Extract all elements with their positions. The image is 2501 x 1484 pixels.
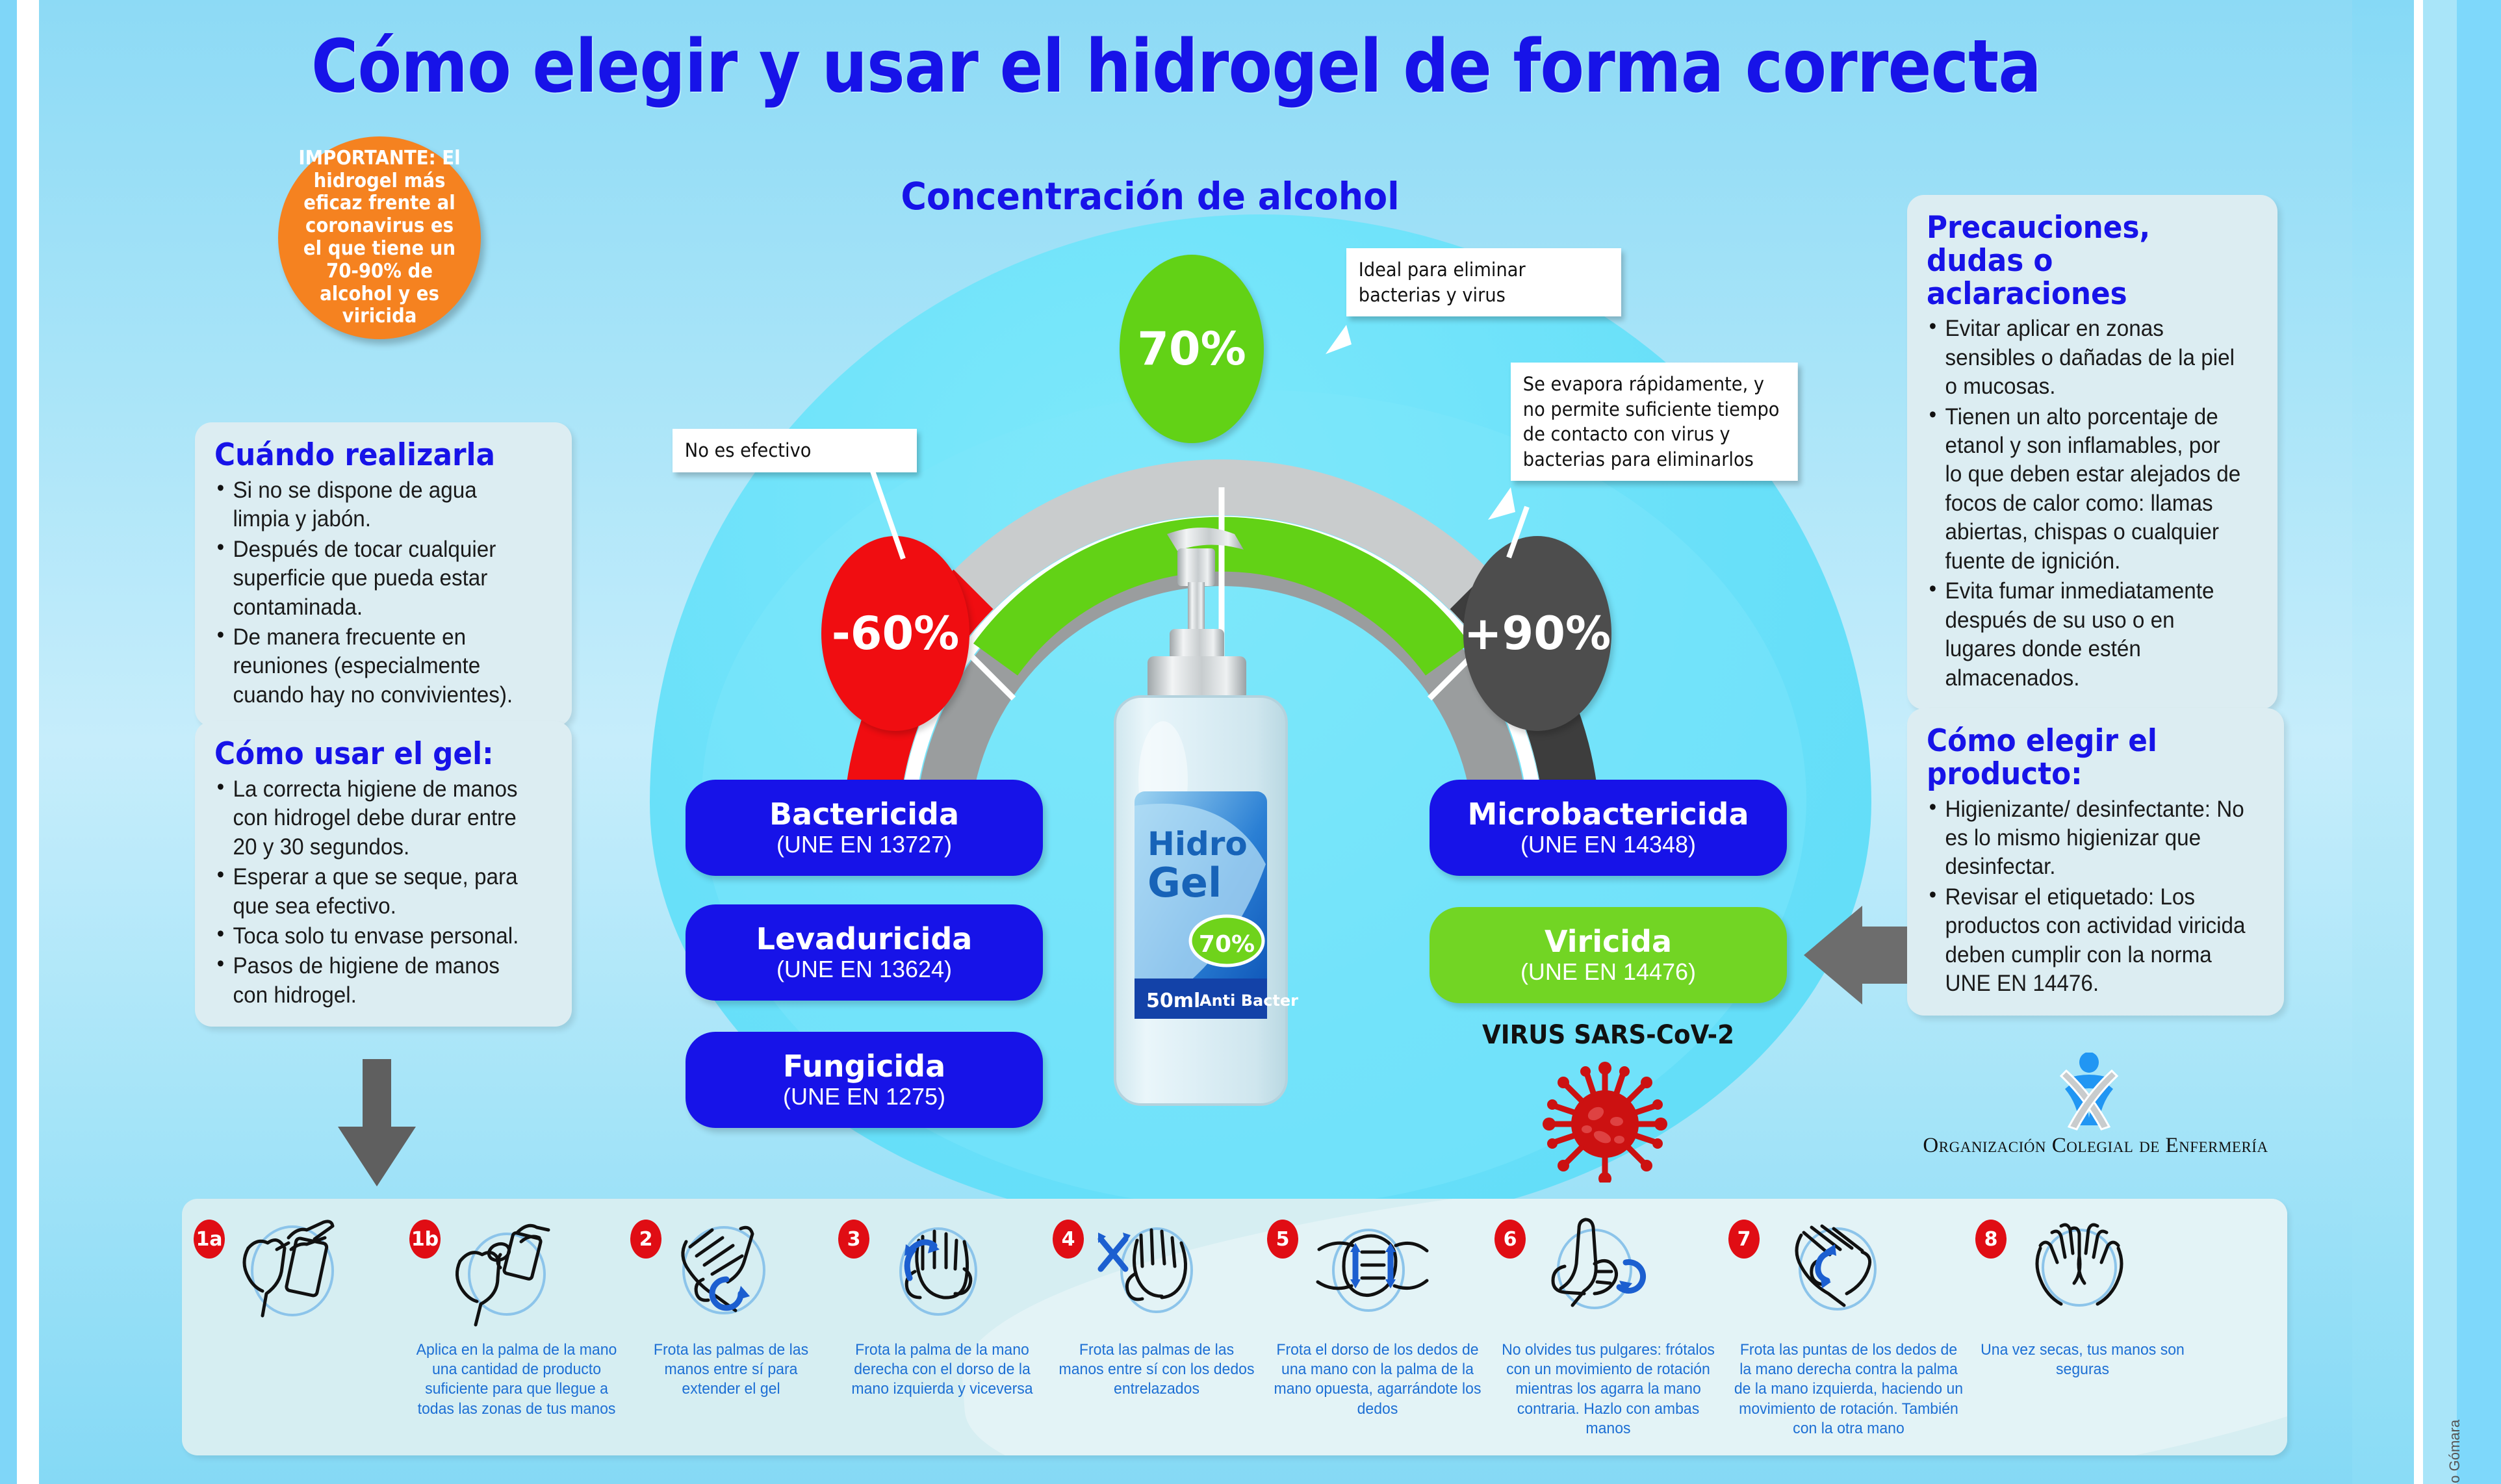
pill-microbactericida: Microbactericida (UNE EN 14348) bbox=[1430, 780, 1787, 876]
callout-no-efectivo: No es efectivo bbox=[673, 429, 917, 472]
svg-text:70%: 70% bbox=[1199, 931, 1255, 958]
gauge-oval-plus90: +90% bbox=[1463, 536, 1611, 731]
step-1b-illustration bbox=[444, 1209, 568, 1333]
list-item: Evitar aplicar en zonas sensibles o daña… bbox=[1927, 314, 2242, 401]
step-1a-number: 1a bbox=[194, 1220, 225, 1259]
card-precauciones: Precauciones, dudas o aclaraciones Evita… bbox=[1907, 195, 2277, 710]
pill-levaduricida-name: Levaduricida bbox=[756, 923, 973, 956]
step-4-number: 4 bbox=[1053, 1220, 1084, 1259]
step-6-caption: No olvides tus pulgares: frótalos con un… bbox=[1499, 1340, 1717, 1439]
step-8-number: 8 bbox=[1975, 1220, 2007, 1259]
card-cuando-realizarla: Cuándo realizarla Si no se dispone de ag… bbox=[195, 422, 572, 726]
step-1-caption: Aplica en la palma de la mano una cantid… bbox=[414, 1340, 620, 1419]
gauge-oval-70: 70% bbox=[1120, 255, 1264, 443]
pill-bactericida: Bactericida (UNE EN 13727) bbox=[686, 780, 1043, 876]
step-5-illustration bbox=[1306, 1209, 1430, 1333]
step-7-number: 7 bbox=[1728, 1220, 1760, 1259]
list-item: Pasos de higiene de manos con hidrogel. bbox=[214, 952, 535, 1010]
pill-microbactericida-name: Microbactericida bbox=[1468, 798, 1749, 831]
svg-text:Hidro: Hidro bbox=[1148, 825, 1248, 863]
card-cuando-list: Si no se dispone de agua limpia y jabón.… bbox=[214, 476, 552, 710]
gauge-oval-minus60: -60% bbox=[821, 536, 969, 731]
list-item: Tienen un alto porcentaje de etanol y so… bbox=[1927, 403, 2242, 576]
card-cuando-heading: Cuándo realizarla bbox=[214, 439, 529, 472]
step-3: 3 Frota la palma de la mano derecha con … bbox=[838, 1205, 1046, 1449]
pill-viricida: Viricida (UNE EN 14476) bbox=[1430, 907, 1787, 1003]
pill-levaduricida-norm: (UNE EN 13624) bbox=[776, 956, 952, 982]
step-8: 8 Una vez secas, tus manos son s bbox=[1975, 1205, 2190, 1449]
pill-viricida-norm: (UNE EN 14476) bbox=[1520, 958, 1696, 985]
step-8-illustration bbox=[2014, 1209, 2144, 1333]
card-como-usar-list: La correcta higiene de manos con hidroge… bbox=[214, 775, 552, 1010]
step-3-illustration bbox=[875, 1209, 998, 1333]
callout-ideal: Ideal para eliminar bacterias y virus bbox=[1346, 248, 1621, 316]
step-6: 6 No olvides tus pulgares: frótalos con … bbox=[1494, 1205, 1722, 1449]
step-7: 7 Frota las puntas de los dedos de la ma… bbox=[1728, 1205, 1969, 1449]
step-4-caption: Frota las palmas de las manos entre sí c… bbox=[1057, 1340, 1256, 1400]
important-badge-text: IMPORTANTE: El hidrogel más eficaz frent… bbox=[296, 147, 463, 328]
pill-fungicida: Fungicida (UNE EN 1275) bbox=[686, 1032, 1043, 1128]
pill-bactericida-name: Bactericida bbox=[769, 798, 959, 831]
list-item: Esperar a que se seque, para que sea efe… bbox=[214, 863, 535, 921]
arrow-down-icon bbox=[325, 1059, 429, 1189]
list-item: Toca solo tu envase personal. bbox=[214, 922, 535, 951]
step-7-caption: Frota las puntas de los dedos de la mano… bbox=[1733, 1340, 1964, 1439]
step-1a-illustration bbox=[229, 1209, 352, 1333]
coronavirus-icon bbox=[1540, 1059, 1670, 1183]
handwash-steps-strip: 1a 1b bbox=[182, 1199, 2287, 1455]
right-white-divider bbox=[2414, 0, 2423, 1484]
important-badge: IMPORTANTE: El hidrogel más eficaz frent… bbox=[278, 136, 481, 339]
step-7-illustration bbox=[1775, 1209, 1899, 1333]
step-1b-number: 1b bbox=[409, 1220, 441, 1259]
list-item: De manera frecuente en reuniones (especi… bbox=[214, 623, 535, 710]
right-band-light bbox=[2423, 0, 2457, 1484]
pill-bactericida-norm: (UNE EN 13727) bbox=[776, 831, 952, 858]
step-3-caption: Frota la palma de la mano derecha con el… bbox=[842, 1340, 1042, 1400]
card-como-usar-heading: Cómo usar el gel: bbox=[214, 738, 529, 771]
card-elegir-heading: Cómo elegir el producto: bbox=[1927, 725, 2241, 791]
list-item: Después de tocar cualquier superficie qu… bbox=[214, 535, 535, 622]
pill-fungicida-name: Fungicida bbox=[783, 1050, 945, 1083]
svg-text:50ml: 50ml bbox=[1146, 990, 1200, 1012]
pill-viricida-name: Viricida bbox=[1545, 925, 1672, 958]
list-item: Evita fumar inmediatamente después de su… bbox=[1927, 577, 2242, 693]
hidrogel-bottle: Hidro Gel 70% 50ml Anti Bacterial bbox=[1105, 520, 1300, 1118]
step-3-number: 3 bbox=[838, 1220, 869, 1259]
step-2: 2 Frota las palmas de las manos entre sí… bbox=[630, 1205, 832, 1449]
step-6-illustration bbox=[1535, 1209, 1658, 1333]
pill-levaduricida: Levaduricida (UNE EN 13624) bbox=[686, 904, 1043, 1001]
logo-text: Organización Colegial de Enfermería bbox=[1884, 1134, 2307, 1158]
step-1a: 1a bbox=[194, 1205, 408, 1449]
list-item: Higienizante/ desinfectante: No es lo mi… bbox=[1927, 795, 2248, 882]
step-1b: 1b Aplica en la palma de la mano una can… bbox=[409, 1205, 624, 1449]
infographic-root: Cómo elegir y usar el hidrogel de forma … bbox=[0, 0, 2501, 1484]
pill-microbactericida-norm: (UNE EN 14348) bbox=[1520, 831, 1696, 858]
step-6-number: 6 bbox=[1494, 1220, 1526, 1259]
svg-text:Gel: Gel bbox=[1148, 859, 1222, 906]
list-item: La correcta higiene de manos con hidroge… bbox=[214, 775, 535, 862]
step-2-illustration bbox=[664, 1209, 788, 1333]
gauge-title: Concentración de alcohol bbox=[848, 174, 1452, 218]
card-elegir-list: Higienizante/ desinfectante: No es lo mi… bbox=[1927, 795, 2264, 999]
step-5: 5 Frota el dorso de lo bbox=[1267, 1205, 1488, 1449]
list-item: Si no se dispone de agua limpia y jabón. bbox=[214, 476, 535, 534]
list-item: Revisar el etiquetado: Los productos con… bbox=[1927, 883, 2248, 999]
step-2-caption: Frota las palmas de las manos entre sí p… bbox=[634, 1340, 828, 1400]
credit-text: Infografía: Fernando Gómara bbox=[2446, 1420, 2463, 1484]
card-precauciones-list: Evitar aplicar en zonas sensibles o daña… bbox=[1927, 314, 2258, 693]
svg-text:Anti Bacterial: Anti Bacterial bbox=[1199, 991, 1300, 1010]
card-como-elegir-producto: Cómo elegir el producto: Higienizante/ d… bbox=[1907, 708, 2284, 1016]
step-5-caption: Frota el dorso de los dedos de una mano … bbox=[1272, 1340, 1483, 1419]
step-2-number: 2 bbox=[630, 1220, 661, 1259]
callout-evapora: Se evapora rápidamente, y no permite suf… bbox=[1511, 363, 1798, 481]
step-4-illustration bbox=[1089, 1209, 1212, 1333]
page-title: Cómo elegir y usar el hidrogel de forma … bbox=[141, 25, 2211, 109]
card-como-usar-el-gel: Cómo usar el gel: La correcta higiene de… bbox=[195, 721, 572, 1027]
enfermeria-logo-icon bbox=[2047, 1053, 2131, 1131]
step-4: 4 Frota las palmas de las manos entre sí… bbox=[1053, 1205, 1261, 1449]
virus-label: VIRUS SARS-CoV-2 bbox=[1442, 1020, 1775, 1050]
right-band-dark bbox=[2457, 0, 2501, 1484]
pill-fungicida-norm: (UNE EN 1275) bbox=[783, 1083, 945, 1110]
step-5-number: 5 bbox=[1267, 1220, 1298, 1259]
step-8-caption: Una vez secas, tus manos son seguras bbox=[1980, 1340, 2186, 1379]
card-precauciones-heading: Precauciones, dudas o aclaraciones bbox=[1927, 212, 2235, 311]
